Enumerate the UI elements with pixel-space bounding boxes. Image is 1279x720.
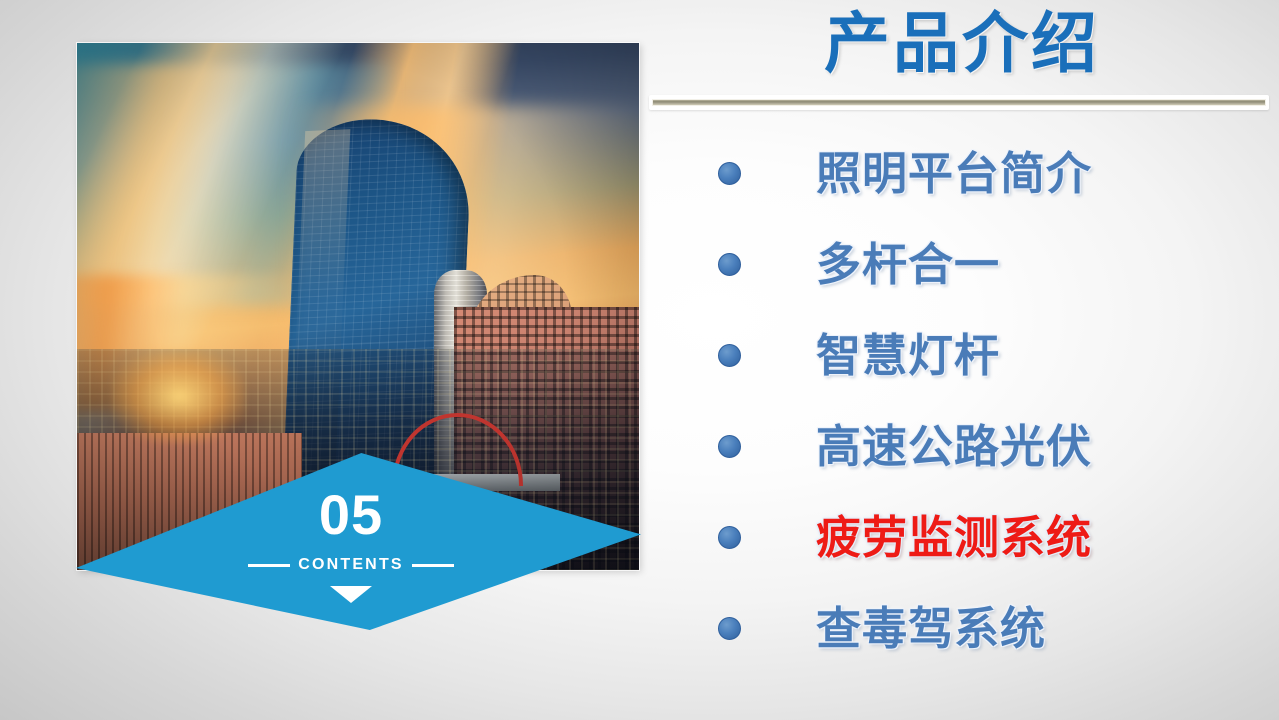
list-item-label: 高速公路光伏 <box>816 424 1092 469</box>
list-item-label: 多杆合一 <box>816 242 1000 287</box>
bullet-dot-icon <box>718 162 741 185</box>
presentation-slide: 05 CONTENTS 产品介绍 照明平台简介 多杆合一 智慧灯杆 <box>0 0 1279 720</box>
list-item-label: 查毒驾系统 <box>816 606 1046 651</box>
list-item-label: 智慧灯杆 <box>816 333 1000 378</box>
list-item[interactable]: 照明平台简介 <box>645 128 1279 219</box>
list-item-label: 照明平台简介 <box>816 151 1092 196</box>
bullet-dot-icon <box>718 253 741 276</box>
list-item[interactable]: 疲劳监测系统 <box>645 492 1279 583</box>
agenda-list: 照明平台简介 多杆合一 智慧灯杆 高速公路光伏 疲劳监测系统 查毒驾系统 <box>645 128 1279 674</box>
bullet-dot-icon <box>718 344 741 367</box>
list-item[interactable]: 查毒驾系统 <box>645 583 1279 674</box>
list-item[interactable]: 多杆合一 <box>645 219 1279 310</box>
bullet-dot-icon <box>718 435 741 458</box>
page-title: 产品介绍 <box>645 4 1279 83</box>
title-divider <box>649 95 1269 110</box>
right-content-column: 产品介绍 照明平台简介 多杆合一 智慧灯杆 高速公路光伏 <box>645 0 1279 720</box>
bullet-dot-icon <box>718 526 741 549</box>
list-item[interactable]: 高速公路光伏 <box>645 401 1279 492</box>
title-divider-bar <box>652 99 1266 106</box>
list-item-label-highlighted: 疲劳监测系统 <box>816 515 1092 560</box>
list-item[interactable]: 智慧灯杆 <box>645 310 1279 401</box>
bullet-dot-icon <box>718 617 741 640</box>
